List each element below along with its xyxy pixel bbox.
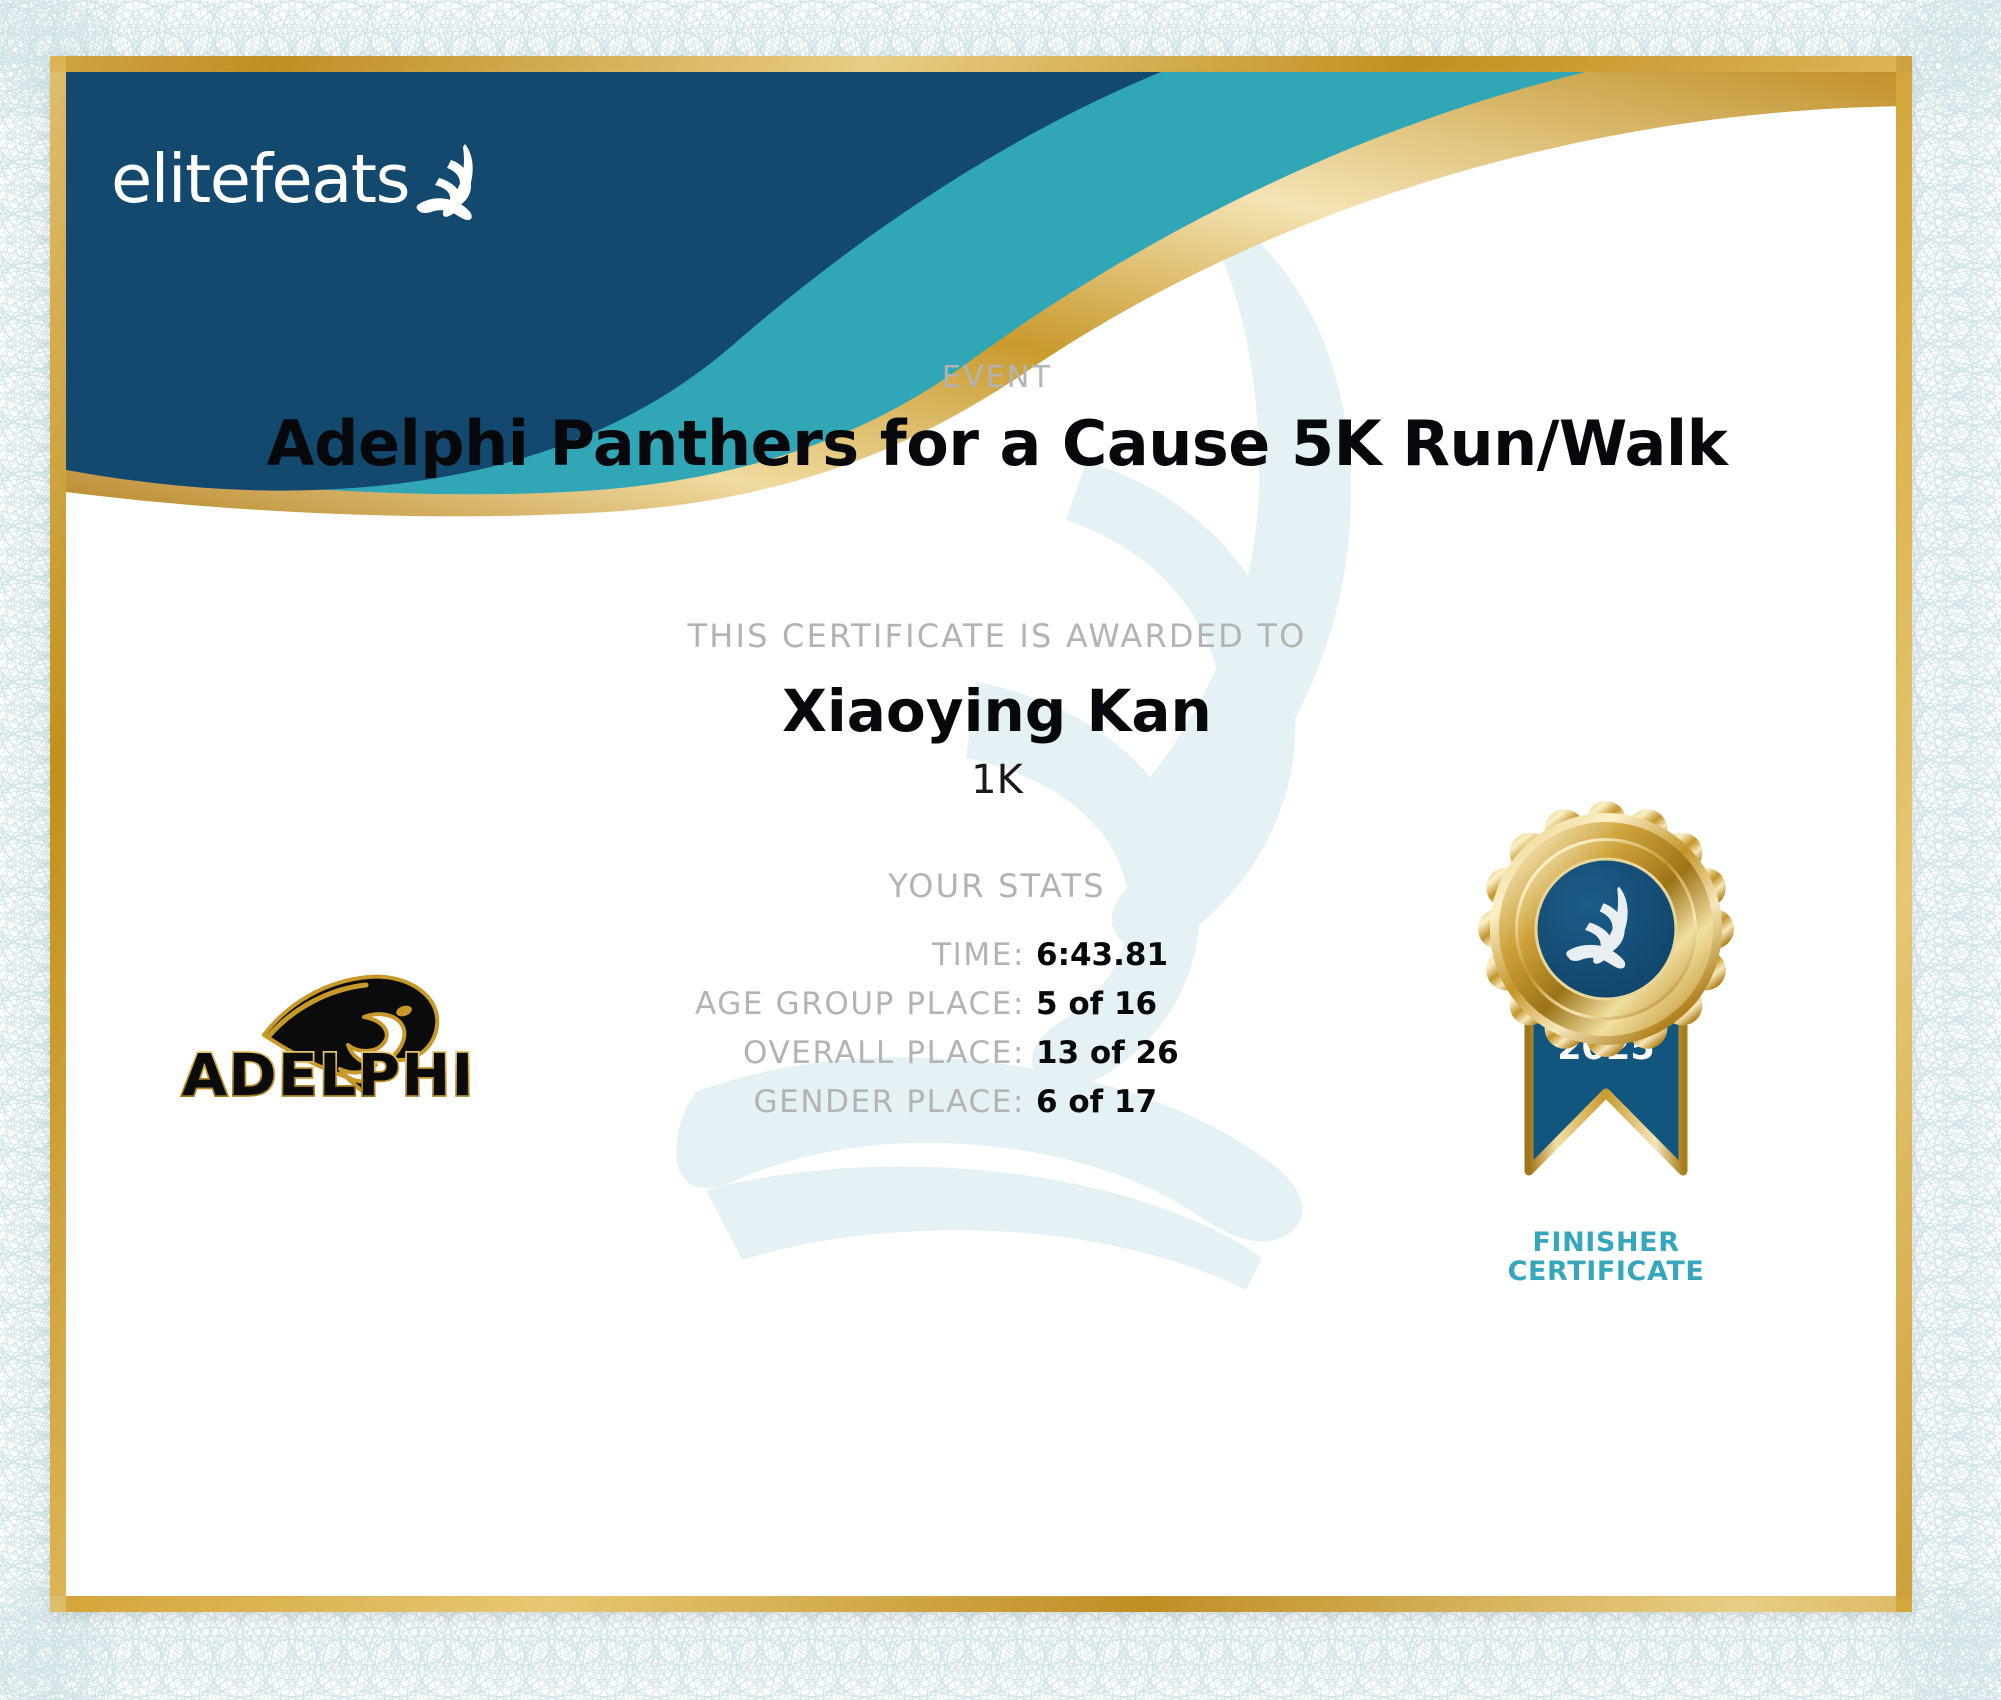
- certificate-page: elitefeats EVENT Adelphi Panthers f: [0, 0, 2001, 1700]
- stat-key: GENDER PLACE:: [754, 1084, 1025, 1120]
- gold-seal: [1478, 801, 1734, 1057]
- stat-value: 13 of 26: [1036, 1035, 1186, 1071]
- gold-border-frame: elitefeats EVENT Adelphi Panthers f: [50, 56, 1912, 1612]
- stat-key: AGE GROUP PLACE:: [695, 986, 1025, 1022]
- awarded-to-label: THIS CERTIFICATE IS AWARDED TO: [66, 617, 1896, 655]
- badge-caption: FINISHER CERTIFICATE: [1461, 1228, 1751, 1286]
- stat-key: OVERALL PLACE:: [743, 1035, 1025, 1071]
- event-label: EVENT: [66, 360, 1896, 395]
- elitefeats-logo: elitefeats: [111, 142, 489, 213]
- winged-foot-icon: [415, 142, 489, 227]
- elitefeats-wordmark: elitefeats: [111, 146, 409, 213]
- adelphi-wordmark: ADELPHI: [182, 1041, 475, 1107]
- stat-value: 6:43.81: [1036, 937, 1186, 973]
- recipient-name: Xiaoying Kan: [66, 677, 1896, 745]
- stat-key: TIME:: [932, 937, 1025, 973]
- stat-value: 6 of 17: [1036, 1084, 1186, 1120]
- finisher-badge: 2025: [1461, 797, 1751, 1286]
- stat-value: 5 of 16: [1036, 986, 1186, 1022]
- event-title: Adelphi Panthers for a Cause 5K Run/Walk: [66, 407, 1896, 480]
- badge-caption-line1: FINISHER: [1461, 1228, 1751, 1257]
- badge-caption-line2: CERTIFICATE: [1461, 1257, 1751, 1286]
- adelphi-logo: ADELPHI: [176, 937, 506, 1112]
